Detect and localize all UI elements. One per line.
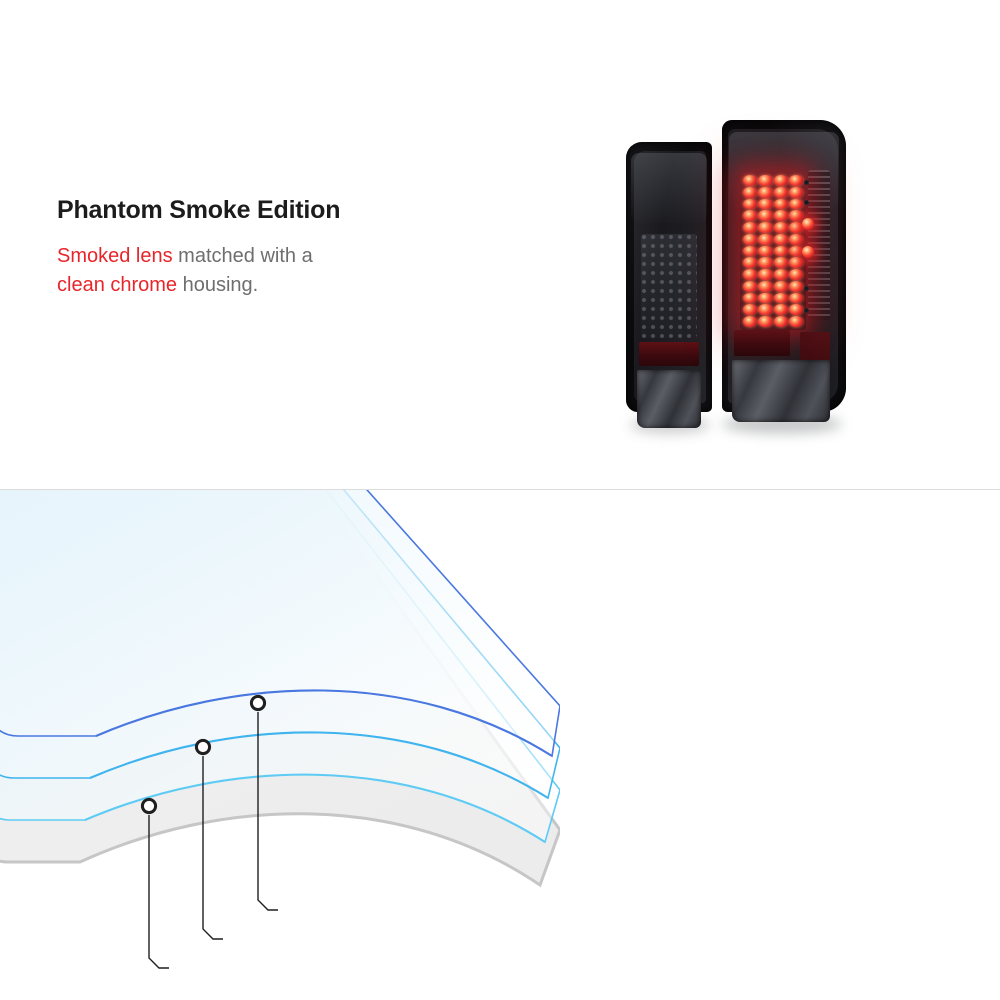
- red-band-right: [734, 330, 790, 356]
- tail-lamp-left: [626, 142, 712, 412]
- led-dot: [774, 222, 788, 233]
- coating-diagram-panel: Lens Water-Repellent Coating Ultraviolet…: [0, 490, 1000, 1000]
- led-dot: [743, 222, 757, 233]
- led-dot: [774, 257, 788, 268]
- led-dot: [774, 187, 788, 198]
- led-dot: [758, 210, 772, 221]
- led-dot: [774, 246, 788, 257]
- led-dot: [758, 257, 772, 268]
- led-dot: [743, 199, 757, 210]
- triple-layer-diagram: [0, 490, 560, 1000]
- body-text-run: housing.: [177, 274, 258, 296]
- reverse-lens-right: [732, 360, 830, 422]
- led-dot: [743, 234, 757, 245]
- led-dot: [758, 187, 772, 198]
- highlighted-phrase: Smoked lens: [57, 245, 173, 267]
- led-dot: [758, 199, 772, 210]
- led-dot: [758, 234, 772, 245]
- led-dot: [743, 246, 757, 257]
- smoke-body: Smoked lens matched with aclean chrome h…: [57, 242, 477, 300]
- led-array-illuminated: [740, 172, 806, 330]
- led-dot: [743, 293, 757, 304]
- fastener-icon: [804, 200, 809, 205]
- led-dot: [758, 246, 772, 257]
- led-dot: [789, 199, 803, 210]
- led-dot: [789, 304, 803, 315]
- reverse-lens-left: [637, 370, 701, 428]
- led-dot: [758, 222, 772, 233]
- led-dot: [774, 199, 788, 210]
- led-dot: [743, 175, 757, 186]
- led-dot: [774, 316, 788, 327]
- led-grid-unlit: [641, 234, 697, 338]
- fastener-icon: [804, 308, 809, 313]
- led-dot: [774, 210, 788, 221]
- led-dot: [789, 234, 803, 245]
- led-dot: [789, 269, 803, 280]
- led-dot: [758, 281, 772, 292]
- led-dot: [743, 304, 757, 315]
- led-dot: [789, 210, 803, 221]
- smoke-heading: Phantom Smoke Edition: [57, 196, 477, 225]
- led-dot: [743, 316, 757, 327]
- led-dot: [743, 187, 757, 198]
- led-dot: [789, 222, 803, 233]
- led-dot: [789, 281, 803, 292]
- led-dot: [789, 316, 803, 327]
- lens-sheen-left: [631, 153, 707, 223]
- product-hero-panel: Phantom Smoke Edition Smoked lens matche…: [0, 0, 1000, 490]
- highlighted-phrase: clean chrome: [57, 274, 177, 296]
- led-dot: [789, 257, 803, 268]
- led-dot: [789, 293, 803, 304]
- accent-led-lower: [802, 246, 814, 258]
- led-dot: [743, 281, 757, 292]
- led-dot: [774, 234, 788, 245]
- led-dot: [758, 293, 772, 304]
- led-dot: [774, 269, 788, 280]
- led-dot: [758, 304, 772, 315]
- led-dot: [789, 175, 803, 186]
- fastener-icon: [804, 180, 809, 185]
- led-dot: [789, 246, 803, 257]
- fastener-icon: [804, 286, 809, 291]
- led-dot: [743, 269, 757, 280]
- led-dot: [743, 257, 757, 268]
- led-dot: [758, 269, 772, 280]
- body-text-run: matched with a: [173, 245, 313, 267]
- red-band-left: [639, 342, 699, 366]
- taillight-pair-image: [612, 104, 864, 434]
- led-dot: [789, 187, 803, 198]
- reflector-strip: [808, 170, 830, 320]
- led-dot: [758, 316, 772, 327]
- accent-led-upper: [802, 218, 814, 230]
- led-dot: [774, 281, 788, 292]
- tail-lamp-right: [722, 120, 846, 412]
- led-dot: [774, 293, 788, 304]
- led-dot: [774, 304, 788, 315]
- smoke-copy-block: Phantom Smoke Edition Smoked lens matche…: [57, 196, 477, 300]
- led-dot: [743, 210, 757, 221]
- led-dot: [758, 175, 772, 186]
- led-dot: [774, 175, 788, 186]
